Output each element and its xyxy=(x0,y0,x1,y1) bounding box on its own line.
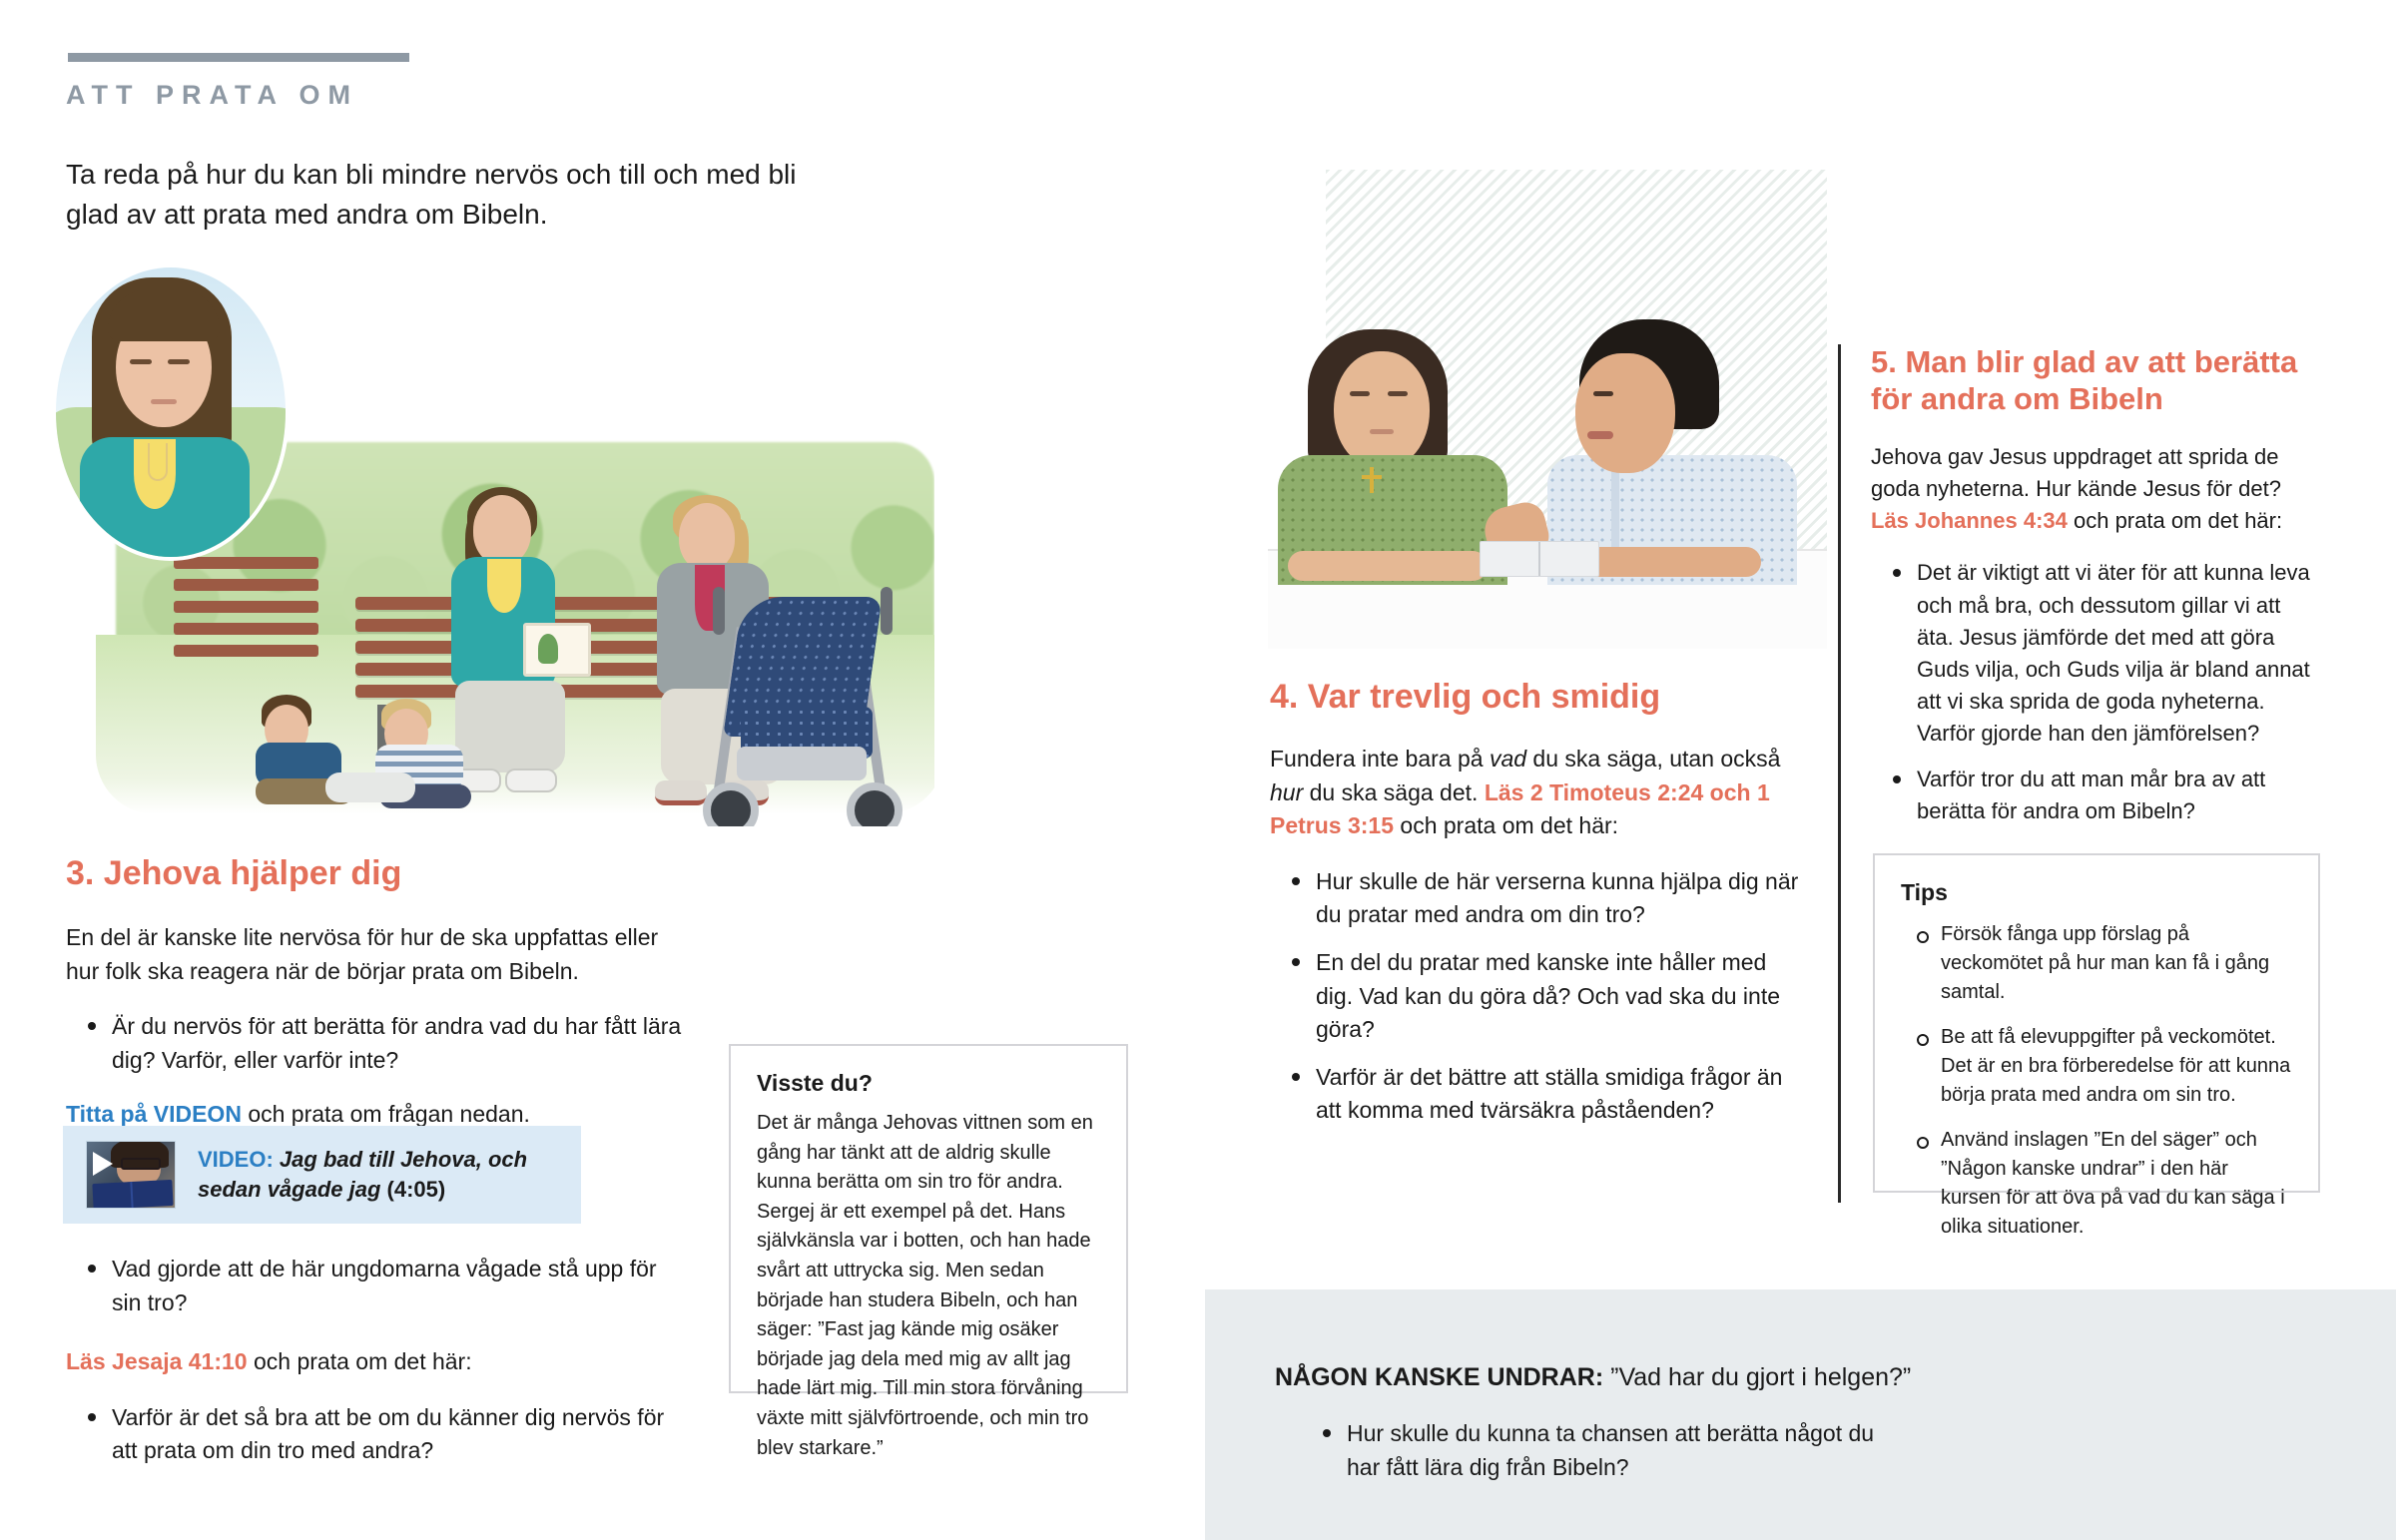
section-3: 3. Jehova hjälper dig En del är kanske l… xyxy=(66,853,685,1150)
s5-text-2: och prata om det här: xyxy=(2068,508,2282,533)
banner-bullets: Hur skulle du kunna ta chansen att berät… xyxy=(1301,1417,1906,1498)
section-3-bullets-before-video: Är du nervös för att berätta för andra v… xyxy=(66,1010,685,1077)
list-item: Det är viktigt att vi äter för att kunna… xyxy=(1917,557,2320,750)
list-item: Hur skulle du kunna ta chansen att berät… xyxy=(1347,1417,1906,1484)
s5-text-1: Jehova gav Jesus uppdraget att sprida de… xyxy=(1871,444,2281,501)
s4-text-3: du ska säga det. xyxy=(1303,779,1485,805)
s4-italic-hur: hur xyxy=(1270,779,1303,805)
bench-left xyxy=(174,557,318,667)
bible-study-conversation-illustration xyxy=(1268,170,1827,649)
list-item: Använd inslagen ”En del säger” och ”Någo… xyxy=(1941,1126,2292,1242)
tips-box: Tips Försök fånga upp förslag på veckomö… xyxy=(1873,853,2320,1193)
section-3-heading: 3. Jehova hjälper dig xyxy=(66,853,685,893)
watch-video-link[interactable]: Titta på VIDEON xyxy=(66,1101,242,1127)
play-icon[interactable] xyxy=(93,1152,113,1176)
toy-on-grass xyxy=(325,772,415,802)
section-3-bullets-after-video: Vad gjorde att de här ungdomarna vågade … xyxy=(66,1253,685,1319)
page-kicker: ATT PRATA OM xyxy=(66,80,358,111)
section-5: 5. Man blir glad av att berätta för andr… xyxy=(1871,344,2320,841)
list-item: Varför är det så bra att be om du känner… xyxy=(112,1401,685,1468)
section-3-bullets-after-scripture: Varför är det så bra att be om du känner… xyxy=(66,1401,685,1468)
visste-du-box: Visste du? Det är många Jehovas vittnen … xyxy=(729,1044,1128,1393)
section-3-scripture-line: Läs Jesaja 41:10 och prata om det här: xyxy=(66,1345,685,1379)
tips-heading: Tips xyxy=(1901,879,2292,906)
visste-du-heading: Visste du? xyxy=(757,1070,1100,1097)
park-scene-illustration xyxy=(56,267,934,826)
list-item: Hur skulle de här verserna kunna hjälpa … xyxy=(1316,865,1799,932)
section-3-paragraph: En del är kanske lite nervösa för hur de… xyxy=(66,921,685,988)
stroller xyxy=(695,587,924,826)
video-thumbnail[interactable] xyxy=(86,1141,176,1209)
section-5-bullets: Det är viktigt att vi äter för att kunna… xyxy=(1871,557,2320,827)
banner-title: NÅGON KANSKE UNDRAR: ”Vad har du gjort i… xyxy=(1275,1363,1911,1392)
s4-text-4: och prata om det här: xyxy=(1394,812,1618,838)
section-5-heading: 5. Man blir glad av att berätta för andr… xyxy=(1871,344,2320,417)
list-item: Är du nervös för att berätta för andra v… xyxy=(112,1010,685,1077)
list-item: En del du pratar med kanske inte håller … xyxy=(1316,946,1799,1047)
scripture-rest: och prata om det här: xyxy=(248,1348,472,1374)
section-4-heading: 4. Var trevlig och smidig xyxy=(1270,677,1799,717)
section-3-continued: Vad gjorde att de här ungdomarna vågade … xyxy=(66,1253,685,1494)
video-lead-rest: och prata om frågan nedan. xyxy=(242,1101,530,1127)
open-bible xyxy=(1480,541,1599,577)
list-item: Försök fånga upp förslag på veckomötet p… xyxy=(1941,920,2292,1007)
kicker-rule xyxy=(68,53,409,62)
list-item: Be att få elevuppgifter på veckomötet. D… xyxy=(1941,1023,2292,1110)
cross-pendant-icon xyxy=(1370,467,1374,493)
section-5-paragraph: Jehova gav Jesus uppdraget att sprida de… xyxy=(1871,441,2320,537)
scripture-reference[interactable]: Läs Jesaja 41:10 xyxy=(66,1348,248,1374)
s4-italic-vad: vad xyxy=(1490,746,1526,771)
list-item: Vad gjorde att de här ungdomarna vågade … xyxy=(112,1253,685,1319)
intro-paragraph: Ta reda på hur du kan bli mindre nervös … xyxy=(66,155,825,235)
page-root: ATT PRATA OM Ta reda på hur du kan bli m… xyxy=(0,0,2396,1540)
list-item: Varför är det bättre att ställa smidiga … xyxy=(1316,1061,1799,1128)
s4-text-2: du ska säga, utan också xyxy=(1526,746,1780,771)
video-label: VIDEO: xyxy=(198,1147,274,1172)
tract-held xyxy=(523,623,591,677)
banner-title-bold: NÅGON KANSKE UNDRAR: xyxy=(1275,1363,1603,1391)
glasses-icon xyxy=(121,1158,161,1170)
nagon-kanske-undrar-banner: NÅGON KANSKE UNDRAR: ”Vad har du gjort i… xyxy=(1205,1289,2396,1540)
visste-du-body: Det är många Jehovas vittnen som en gång… xyxy=(757,1109,1100,1463)
video-lead-line: Titta på VIDEON och prata om frågan neda… xyxy=(66,1101,685,1128)
video-duration: (4:05) xyxy=(387,1177,446,1202)
figure-man-speaking xyxy=(1557,319,1807,569)
s4-text-1: Fundera inte bara på xyxy=(1270,746,1490,771)
list-item: Varför tror du att man mår bra av att be… xyxy=(1917,764,2320,827)
right-column-divider xyxy=(1838,344,1841,1203)
section-4-paragraph: Fundera inte bara på vad du ska säga, ut… xyxy=(1270,743,1799,843)
banner-title-quote: ”Vad har du gjort i helgen?” xyxy=(1603,1363,1911,1391)
section-4: 4. Var trevlig och smidig Fundera inte b… xyxy=(1270,677,1799,1142)
scripture-reference[interactable]: Läs Johannes 4:34 xyxy=(1871,508,2068,533)
section-4-bullets: Hur skulle de här verserna kunna hjälpa … xyxy=(1270,865,1799,1128)
nervous-woman-inset-portrait xyxy=(56,267,286,557)
video-caption: VIDEO: Jag bad till Jehova, och sedan vå… xyxy=(198,1145,557,1206)
video-callout[interactable]: VIDEO: Jag bad till Jehova, och sedan vå… xyxy=(63,1126,581,1224)
tips-list: Försök fånga upp förslag på veckomötet p… xyxy=(1897,920,2292,1242)
